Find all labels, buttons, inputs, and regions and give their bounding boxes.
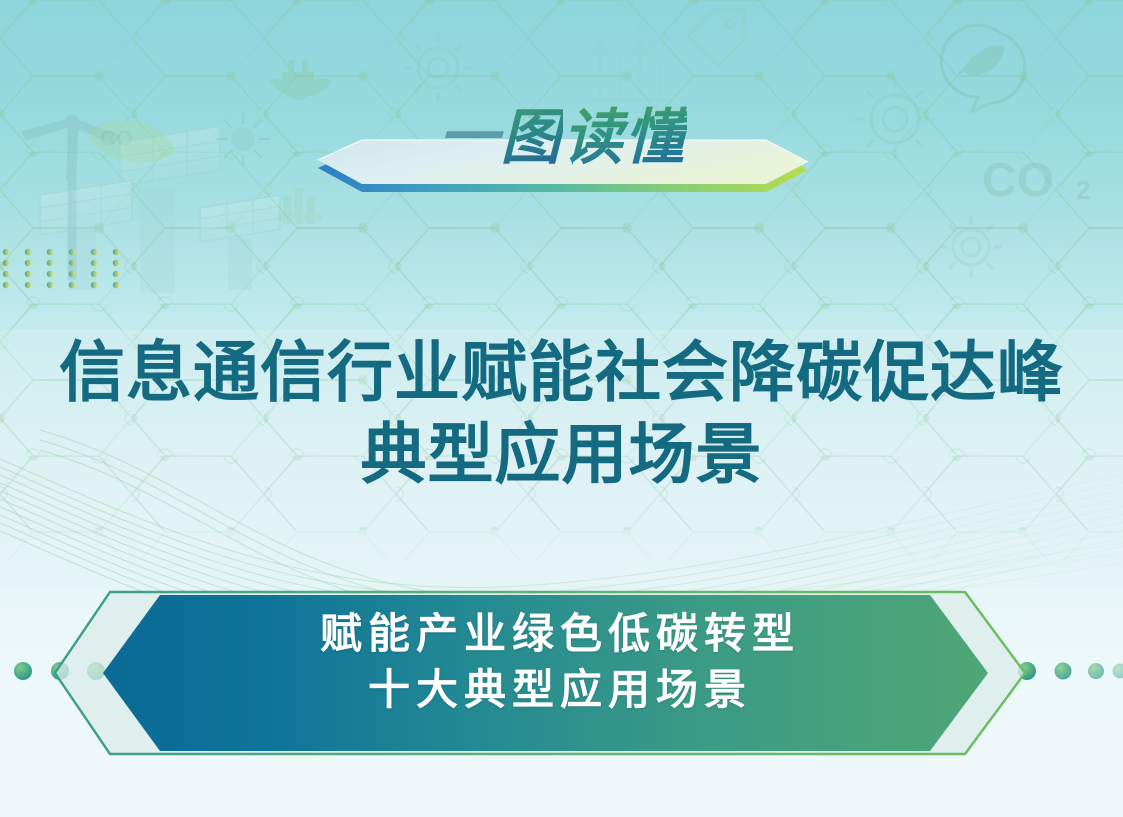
co2-watermark: CO: [982, 154, 1054, 207]
gear-icon: [855, 79, 935, 159]
solar-panel-icon: [200, 195, 280, 290]
solar-panel-icon: [40, 180, 132, 290]
page-title: 信息通信行业赋能社会降碳促达峰 典型应用场景: [0, 331, 1123, 495]
ribbon-seg-1: 一: [439, 102, 501, 174]
tag-icon: [688, 10, 744, 66]
banner-title: 赋能产业绿色低碳转型 十大典型应用场景: [160, 606, 960, 718]
co2-leaf-icon: CO: [90, 121, 176, 163]
ribbon-seg-2: 图: [501, 102, 563, 174]
dot-grid: [3, 249, 119, 288]
page-title-line-1: 信息通信行业赋能社会降碳促达峰: [0, 331, 1123, 413]
gear-icon: [404, 34, 472, 102]
read-in-one-picture-ribbon: 一图读懂: [310, 96, 815, 214]
ribbon-title: 一图读懂: [310, 102, 815, 174]
svg-text:CO: CO: [100, 126, 133, 151]
wind-turbine-icon: [22, 115, 120, 280]
bar-chart-sketch: [590, 20, 672, 100]
page-title-line-2: 典型应用场景: [0, 413, 1123, 495]
ribbon-seg-3: 读懂: [563, 102, 687, 174]
banner-title-line-1: 赋能产业绿色低碳转型: [160, 606, 960, 662]
svg-text:2: 2: [1076, 175, 1090, 205]
banner-title-line-2: 十大典型应用场景: [160, 662, 960, 718]
solar-panel-icon: [120, 126, 220, 293]
section-banner: 赋能产业绿色低碳转型 十大典型应用场景: [0, 578, 1123, 768]
infographic-poster: CO: [0, 0, 1123, 817]
plug-leaf-icon: [270, 60, 332, 100]
sun-icon: [216, 112, 270, 166]
leaf-bubble-icon: [941, 25, 1024, 111]
gear-icon: [940, 216, 1002, 278]
